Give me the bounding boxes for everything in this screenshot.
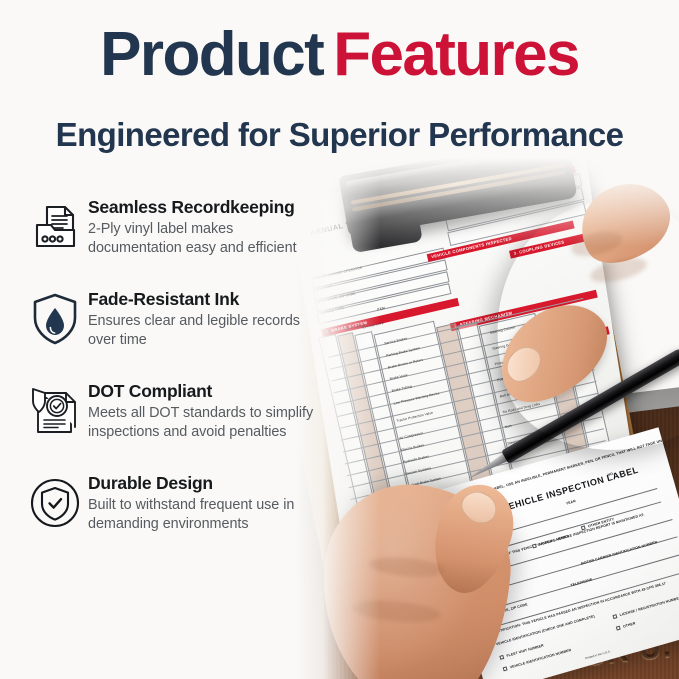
form-column-header: ITEM [376, 306, 385, 312]
feature-description: Ensures clear and legible records over t… [88, 312, 328, 350]
label-field: YEAR [565, 499, 576, 506]
document-shield-check-icon [22, 380, 88, 442]
feature-description: Meets all DOT standards to simplify insp… [88, 404, 328, 442]
thumbnail [456, 486, 501, 528]
label-checkbox[interactable] [616, 626, 621, 631]
feature-title: Fade-Resistant Ink [88, 289, 328, 310]
feature-item: DOT Compliant Meets all DOT standards to… [22, 380, 340, 442]
page-title-accent: Features [333, 20, 579, 89]
feature-title: Durable Design [88, 473, 328, 494]
feature-description: 2-Ply vinyl label makes documentation ea… [88, 220, 328, 258]
label-field: OTHER [623, 621, 636, 628]
feature-item: Seamless Recordkeeping 2-Ply vinyl label… [22, 196, 340, 258]
clip-wood-strip [351, 163, 564, 204]
feature-title: Seamless Recordkeeping [88, 197, 328, 218]
label-field: LICENSE / REGISTRATION NUMBER [619, 596, 679, 618]
feature-item: Durable Design Built to withstand freque… [22, 472, 340, 534]
label-field: FLEET UNIT NUMBER [506, 643, 544, 657]
label-footer: Printed in the U.S.A. [585, 649, 611, 660]
label-checkbox[interactable] [503, 666, 508, 671]
feature-list: Seamless Recordkeeping 2-Ply vinyl label… [22, 196, 340, 564]
label-field: MOTOR CARRIER IDENTIFICATION NUMBER [581, 540, 658, 566]
circle-shield-check-icon [22, 472, 88, 534]
knuckle-crease [368, 555, 445, 580]
feature-title: DOT Compliant [88, 381, 328, 402]
page-title-primary: Product [100, 20, 323, 89]
shield-ink-drop-icon [22, 288, 88, 350]
thumbnail [499, 340, 547, 388]
knuckle-crease [350, 597, 441, 625]
document-file-box-icon [22, 196, 88, 258]
product-photo: BUCK U. ANNUAL VEHICLE INSPECTION REPORT… [296, 158, 679, 679]
feature-description: Built to withstand frequent use in deman… [88, 496, 328, 534]
label-field: TELEPHONE [570, 577, 593, 587]
label-checkbox[interactable] [612, 614, 617, 619]
label-checkbox[interactable] [499, 655, 504, 660]
label-checkbox-label: MOTOR CARRIER [539, 534, 570, 547]
page-subtitle: Engineered for Superior Performance [0, 116, 679, 154]
feature-item: Fade-Resistant Ink Ensures clear and leg… [22, 288, 340, 350]
label-checkbox[interactable] [532, 543, 537, 548]
page-title: ProductFeatures [0, 24, 679, 86]
